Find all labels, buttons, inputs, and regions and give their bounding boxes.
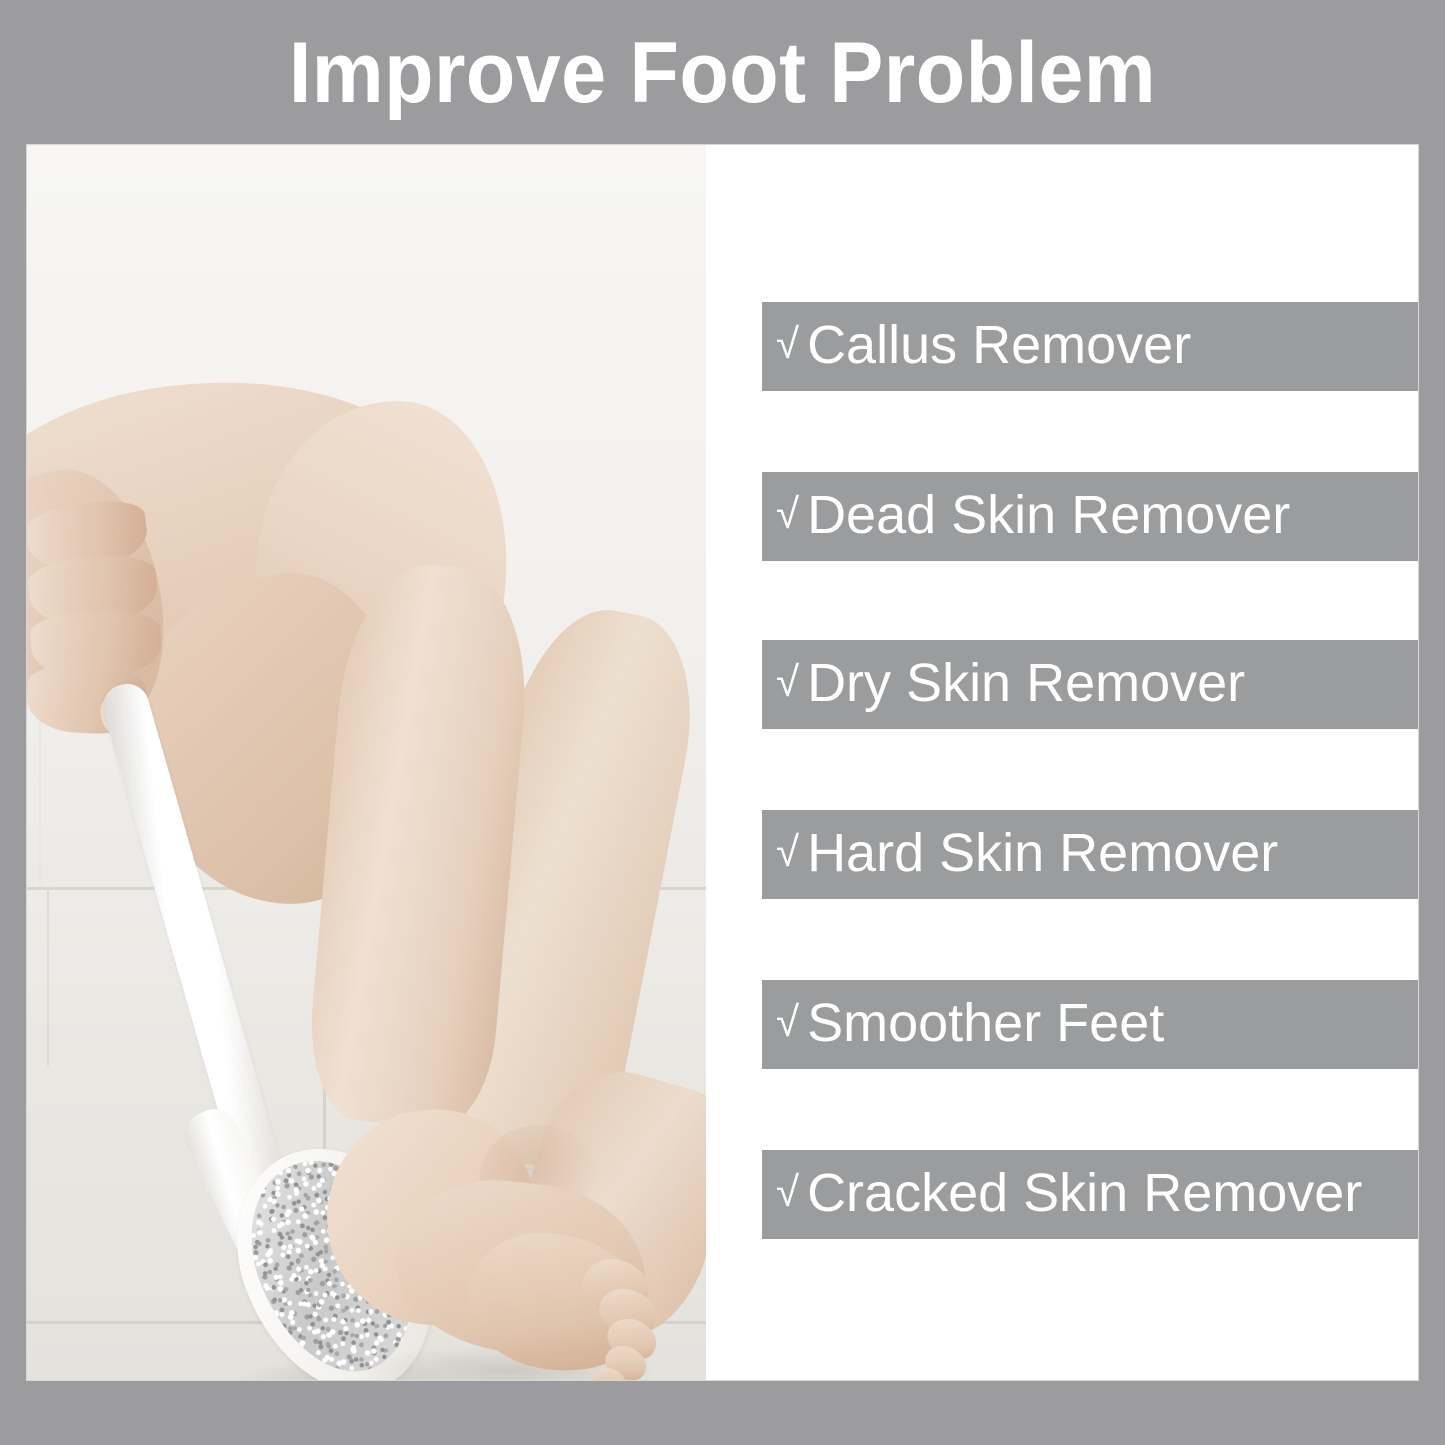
feature-label: Dead Skin Remover bbox=[807, 488, 1290, 542]
feature-item-callus-remover: √ Callus Remover bbox=[762, 302, 1418, 391]
feature-list: √ Callus Remover √ Dead Skin Remover √ D… bbox=[707, 145, 1418, 1380]
feature-item-smoother-feet: √ Smoother Feet bbox=[762, 980, 1418, 1069]
feature-label: Hard Skin Remover bbox=[807, 826, 1278, 880]
check-icon: √ bbox=[776, 1171, 799, 1213]
wall-grout-vertical bbox=[39, 705, 41, 887]
product-feature-poster: Improve Foot Problem bbox=[0, 0, 1445, 1445]
feature-item-hard-skin-remover: √ Hard Skin Remover bbox=[762, 810, 1418, 899]
feature-label: Callus Remover bbox=[807, 318, 1191, 372]
floor-grout-line-vertical-left bbox=[47, 887, 49, 1067]
check-icon: √ bbox=[776, 323, 799, 365]
content-card: √ Callus Remover √ Dead Skin Remover √ D… bbox=[27, 145, 1418, 1380]
check-icon: √ bbox=[776, 1001, 799, 1043]
feature-label: Dry Skin Remover bbox=[807, 656, 1245, 710]
check-icon: √ bbox=[776, 493, 799, 535]
feature-label: Smoother Feet bbox=[807, 996, 1164, 1050]
check-icon: √ bbox=[776, 831, 799, 873]
feature-item-cracked-skin-remover: √ Cracked Skin Remover bbox=[762, 1150, 1418, 1239]
page-title: Improve Foot Problem bbox=[43, 26, 1401, 120]
product-photo bbox=[27, 145, 707, 1380]
check-icon: √ bbox=[776, 661, 799, 703]
feature-label: Cracked Skin Remover bbox=[807, 1166, 1362, 1220]
feature-item-dead-skin-remover: √ Dead Skin Remover bbox=[762, 472, 1418, 561]
feature-item-dry-skin-remover: √ Dry Skin Remover bbox=[762, 640, 1418, 729]
